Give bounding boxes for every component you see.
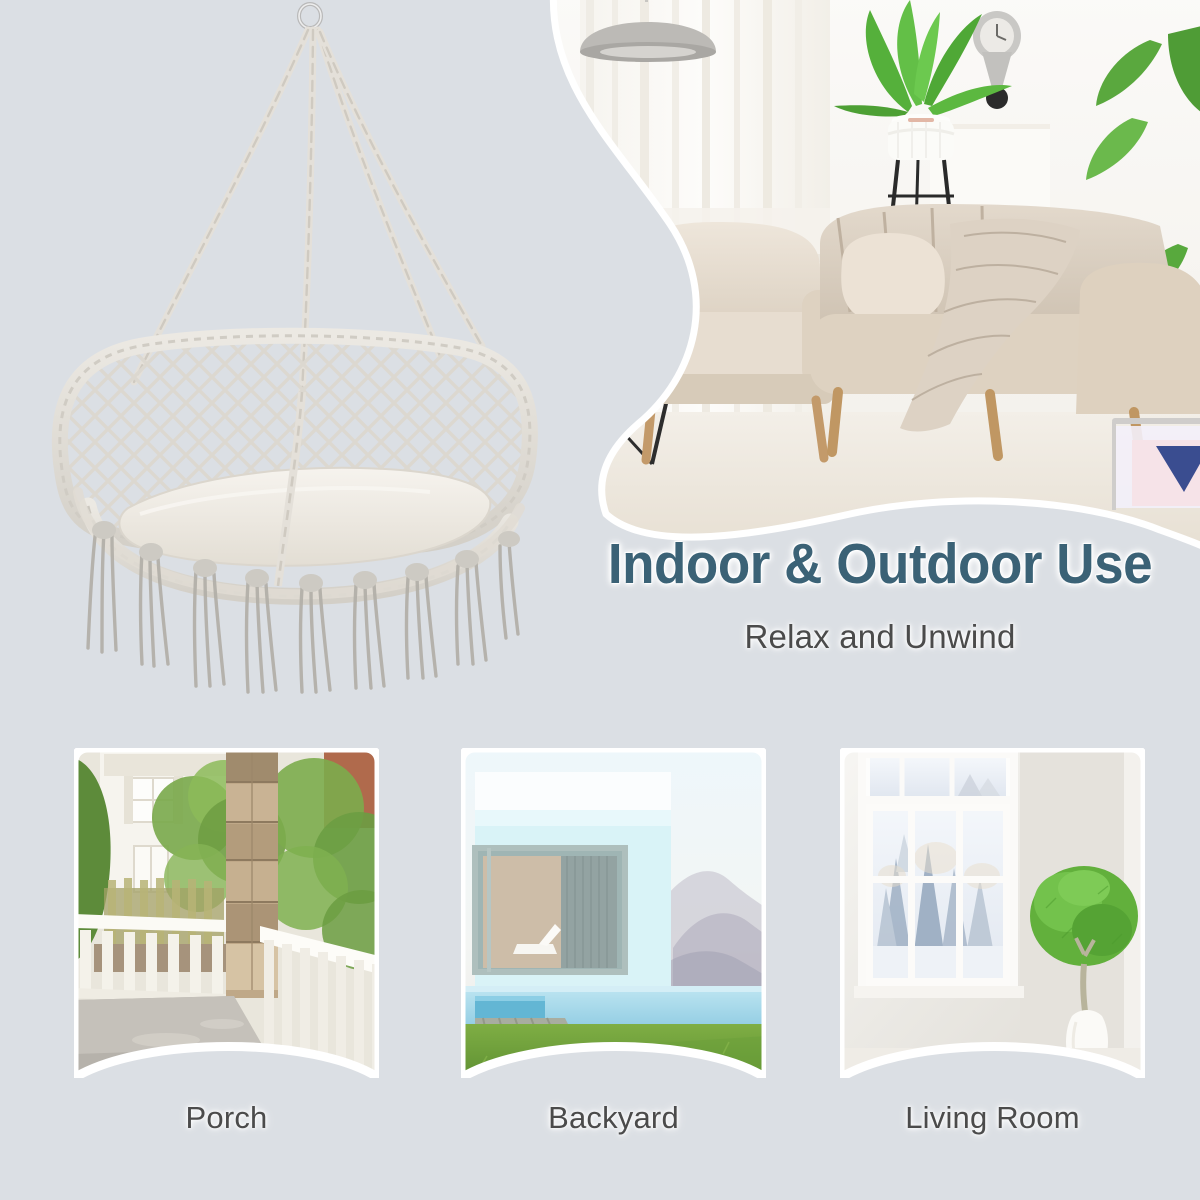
page-title: Indoor & Outdoor Use [582, 534, 1177, 596]
porch-illustration [74, 748, 379, 1078]
hero-blob-svg [520, 0, 1200, 554]
hero-image [520, 0, 1200, 554]
living-room-caption: Living Room [840, 1100, 1145, 1136]
magazine-rack [1112, 418, 1200, 510]
page-subtitle: Relax and Unwind [560, 618, 1200, 656]
living-room-illustration [840, 748, 1145, 1078]
backyard-thumbnail [461, 748, 766, 1078]
backyard-illustration [461, 748, 766, 1078]
headline-block: Indoor & Outdoor Use Relax and Unwind [560, 534, 1200, 656]
porch-caption: Porch [74, 1100, 379, 1136]
promo-canvas: Indoor & Outdoor Use Relax and Unwind [0, 0, 1200, 1200]
macrame-chair-svg [30, 0, 590, 720]
hanging-ring [299, 4, 321, 28]
living-room-thumbnail [840, 748, 1145, 1078]
porch-thumbnail [74, 748, 379, 1078]
product-image [30, 0, 590, 720]
backyard-caption: Backyard [461, 1100, 766, 1136]
hero-photo-content [520, 0, 1200, 554]
scene-card-porch[interactable]: Porch [74, 748, 379, 1078]
scene-card-living-room[interactable]: Living Room [840, 748, 1145, 1078]
scene-cards: Porch [0, 748, 1200, 1168]
scene-card-backyard[interactable]: Backyard [461, 748, 766, 1078]
